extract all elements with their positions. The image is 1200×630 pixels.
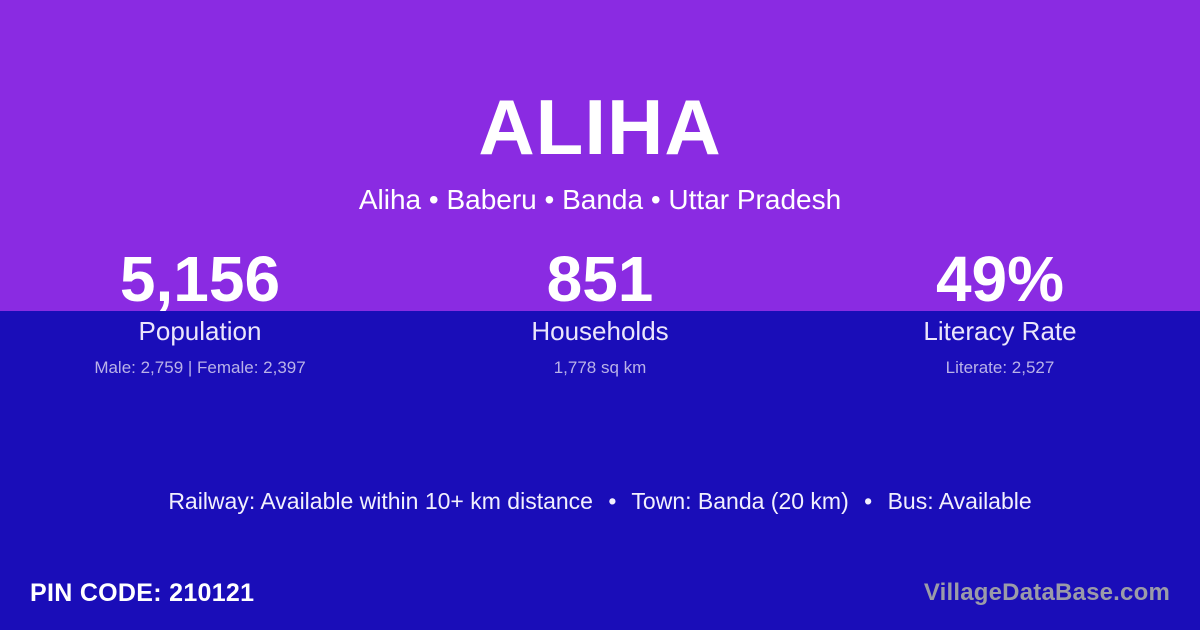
stat-population-value: 5,156 [0, 245, 400, 313]
stat-literacy-rate-value: 49% [800, 245, 1200, 313]
infrastructure-railway: Railway: Available within 10+ km distanc… [168, 488, 593, 514]
stat-households-value: 851 [400, 245, 800, 313]
stat-population: 5,156 Population Male: 2,759 | Female: 2… [0, 245, 400, 379]
footer: PIN CODE: 210121 VillageDataBase.com [0, 573, 1200, 613]
infrastructure-bus: Bus: Available [888, 488, 1032, 514]
stats-row: 5,156 Population Male: 2,759 | Female: 2… [0, 245, 1200, 379]
stat-population-label: Population [0, 315, 400, 347]
stat-literacy-rate-sublabel: Literate: 2,527 [800, 357, 1200, 379]
breadcrumb: Aliha • Baberu • Banda • Uttar Pradesh [0, 183, 1200, 217]
stat-population-sublabel: Male: 2,759 | Female: 2,397 [0, 357, 400, 379]
page-title: ALIHA [0, 82, 1200, 172]
stat-households-label: Households [400, 315, 800, 347]
village-info-card: ALIHA Aliha • Baberu • Banda • Uttar Pra… [0, 0, 1200, 630]
stat-literacy-rate-label: Literacy Rate [800, 315, 1200, 347]
pin-code: PIN CODE: 210121 [30, 578, 254, 608]
stat-literacy-rate: 49% Literacy Rate Literate: 2,527 [800, 245, 1200, 379]
infrastructure-separator-2: • [855, 488, 881, 514]
infrastructure-town: Town: Banda (20 km) [631, 488, 848, 514]
stat-households-sublabel: 1,778 sq km [400, 357, 800, 379]
stat-households: 851 Households 1,778 sq km [400, 245, 800, 379]
infrastructure-separator-1: • [599, 488, 625, 514]
site-branding[interactable]: VillageDataBase.com [924, 578, 1170, 608]
infrastructure-line: Railway: Available within 10+ km distanc… [0, 487, 1200, 515]
